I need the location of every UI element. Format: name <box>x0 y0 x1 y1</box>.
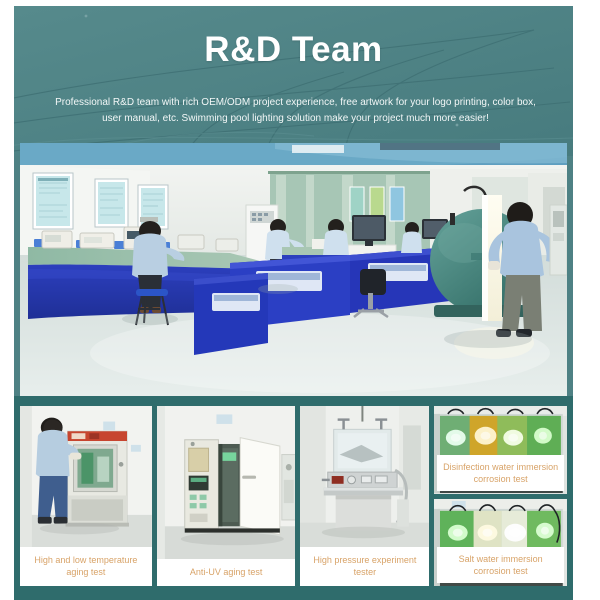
page-subtitle: Professional R&D team with rich OEM/ODM … <box>52 95 539 127</box>
gallery-card-disinfection-water[interactable]: Disinfection water immersion corrosion t… <box>434 406 567 494</box>
gallery-caption-disinfection-water: Disinfection water immersion corrosion t… <box>437 455 564 491</box>
gallery-card-salt-water[interactable]: Salt water immersion corrosion test <box>434 499 567 587</box>
hero-lab-photo <box>20 143 567 396</box>
test-equipment-gallery: High and low temperature aging test <box>20 406 567 586</box>
photo-high-pressure <box>300 406 429 547</box>
gallery-card-anti-uv[interactable]: Anti-UV aging test <box>157 406 296 586</box>
gallery-caption-high-pressure: High pressure experiment tester <box>300 547 429 586</box>
header-decorative-arcs <box>14 6 573 156</box>
gallery-card-high-low-temperature[interactable]: High and low temperature aging test <box>20 406 152 586</box>
page-title: R&D Team <box>14 30 573 70</box>
photo-high-low-temperature <box>20 406 152 547</box>
photo-anti-uv <box>157 406 296 559</box>
gallery-card-high-pressure[interactable]: High pressure experiment tester <box>300 406 429 586</box>
gallery-caption-anti-uv: Anti-UV aging test <box>157 559 296 586</box>
gallery-caption-high-low-temperature: High and low temperature aging test <box>20 547 152 586</box>
poster-page: R&D Team Professional R&D team with rich… <box>0 0 600 600</box>
gallery-column-immersion-tests: Disinfection water immersion corrosion t… <box>434 406 567 586</box>
gallery-caption-salt-water: Salt water immersion corrosion test <box>437 547 564 583</box>
